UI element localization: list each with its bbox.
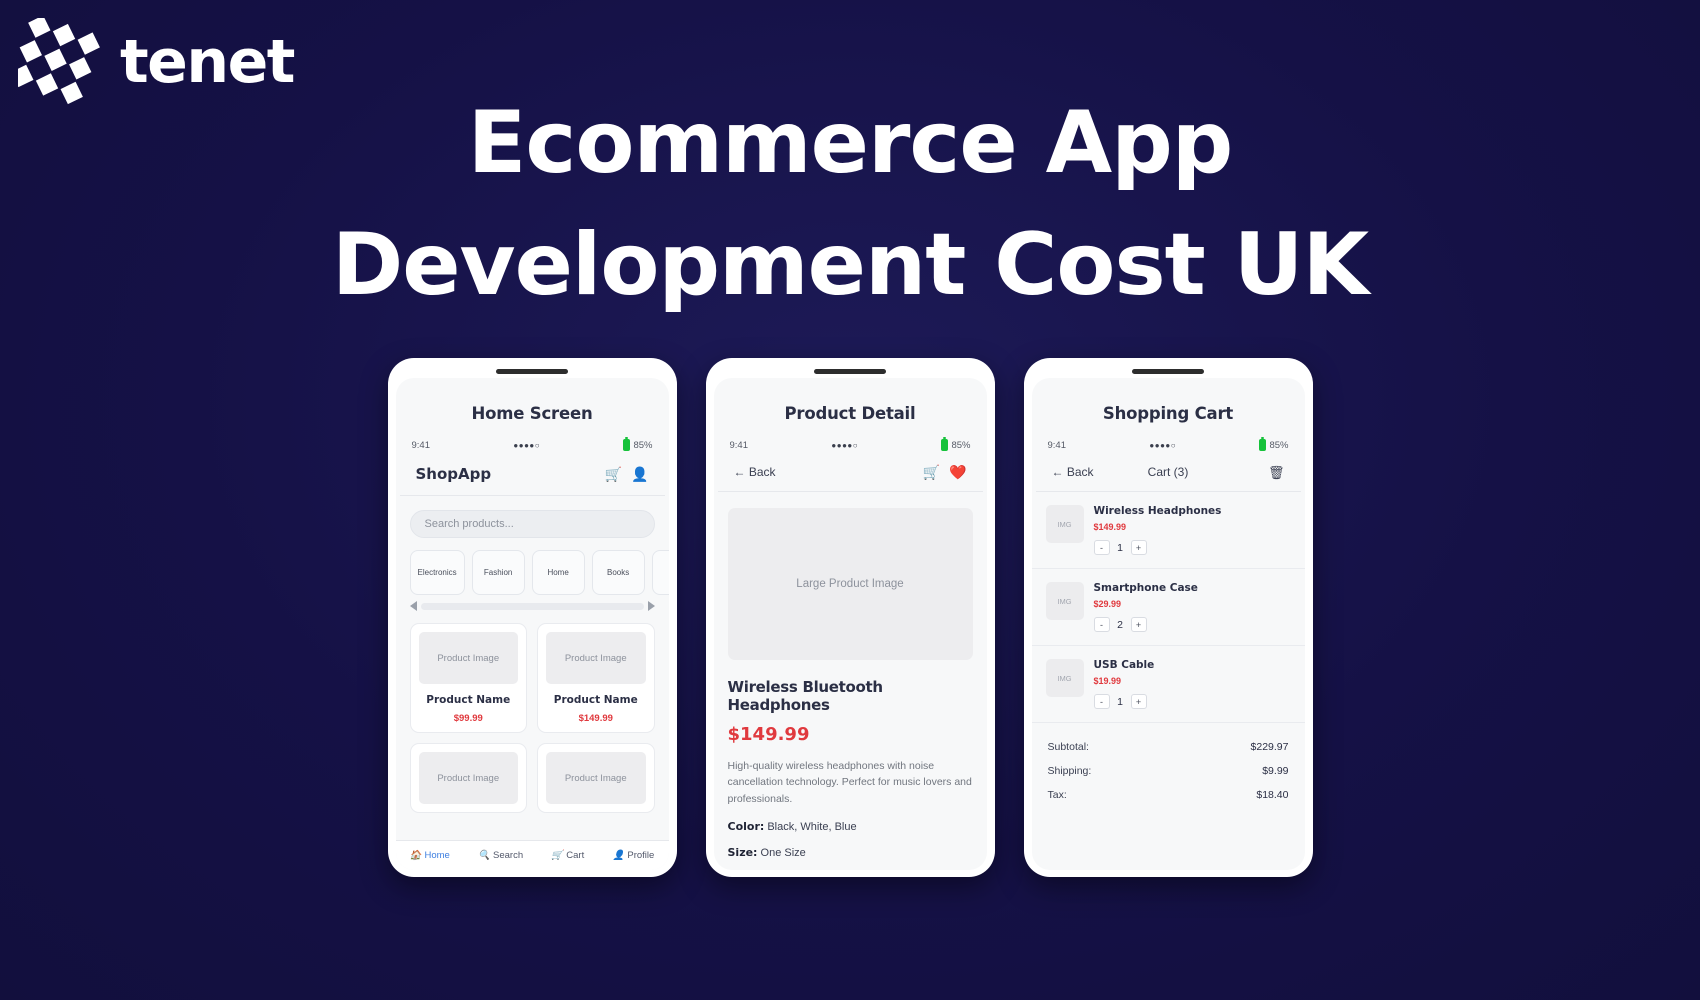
back-button[interactable]: ← Back: [1052, 465, 1148, 479]
product-price: $99.99: [419, 713, 519, 724]
quantity-stepper[interactable]: - 1 +: [1094, 694, 1291, 709]
product-spec-size: Size: One Size: [728, 846, 973, 859]
app-bar-actions: 🛒 👤: [605, 467, 649, 481]
summary-value-subtotal: $229.97: [1251, 741, 1289, 753]
phone-shopping-cart: Shopping Cart 9:41 ●●●●○ 85% ← Back Cart…: [1024, 358, 1313, 877]
phone-notch: [814, 369, 886, 374]
phone-notch: [496, 369, 568, 374]
summary-value-tax: $18.40: [1256, 789, 1288, 801]
quantity-value: 2: [1116, 619, 1125, 631]
cart-icon[interactable]: 🛒: [923, 465, 940, 479]
spec-value-color: Black, White, Blue: [764, 821, 856, 833]
home-icon: 🏠: [410, 850, 422, 861]
cart-item-thumbnail: IMG: [1046, 505, 1084, 543]
category-chip-partial[interactable]: S: [652, 550, 669, 595]
search-input[interactable]: Search products...: [410, 510, 655, 538]
summary-label-shipping: Shipping:: [1048, 765, 1092, 777]
increase-quantity-button[interactable]: +: [1131, 694, 1147, 709]
cart-item-name: Smartphone Case: [1094, 582, 1291, 594]
phone-notch: [1132, 369, 1204, 374]
decrease-quantity-button[interactable]: -: [1094, 694, 1110, 709]
nav-label-home: Home: [425, 850, 450, 861]
cart-item-name: USB Cable: [1094, 659, 1291, 671]
battery-percent: 85%: [633, 440, 652, 451]
spec-value-size: One Size: [757, 847, 805, 859]
increase-quantity-button[interactable]: +: [1131, 540, 1147, 555]
battery-percent: 85%: [951, 440, 970, 451]
cart-row: IMG USB Cable $19.99 - 1 +: [1032, 646, 1305, 723]
increase-quantity-button[interactable]: +: [1131, 617, 1147, 632]
status-bar-cart: 9:41 ●●●●○ 85%: [1032, 423, 1305, 451]
product-title: Wireless Bluetooth Headphones: [728, 678, 973, 714]
phone-mockups: Home Screen 9:41 ●●●●○ 85% ShopApp 🛒 👤: [0, 358, 1700, 877]
product-price: $149.99: [728, 724, 973, 745]
phone-product-detail: Product Detail 9:41 ●●●●○ 85% ← Back 🛒 ❤…: [706, 358, 995, 877]
nav-item-home[interactable]: 🏠 Home: [410, 850, 450, 861]
summary-row-subtotal: Subtotal: $229.97: [1048, 735, 1289, 759]
product-spec-color: Color: Black, White, Blue: [728, 820, 973, 833]
scroll-left-arrow-icon[interactable]: [410, 601, 417, 611]
product-name: Product Name: [546, 694, 646, 706]
product-price: $149.99: [546, 713, 646, 724]
screen-shopping-cart: Shopping Cart 9:41 ●●●●○ 85% ← Back Cart…: [1032, 378, 1305, 870]
cart-item-thumbnail: IMG: [1046, 582, 1084, 620]
screen-title-product-detail: Product Detail: [714, 378, 987, 423]
profile-icon: 👤: [613, 850, 625, 861]
status-battery: 85%: [623, 439, 652, 451]
order-summary: Subtotal: $229.97 Shipping: $9.99 Tax: $…: [1032, 723, 1305, 807]
cart-item-thumbnail: IMG: [1046, 659, 1084, 697]
product-image-placeholder: Product Image: [546, 632, 646, 684]
nav-label-profile: Profile: [627, 850, 654, 861]
detail-actions: 🛒 ❤️: [923, 465, 967, 479]
cart-item-name: Wireless Headphones: [1094, 505, 1291, 517]
status-time: 9:41: [730, 440, 749, 451]
status-signal: ●●●●○: [831, 441, 858, 450]
decrease-quantity-button[interactable]: -: [1094, 617, 1110, 632]
cart-top-bar: ← Back Cart (3) 🗑: [1036, 451, 1301, 492]
nav-item-cart[interactable]: 🛒 Cart: [551, 850, 584, 861]
status-signal: ●●●●○: [1149, 441, 1176, 450]
spec-label-color: Color:: [728, 820, 765, 833]
cart-item-price: $149.99: [1094, 522, 1291, 532]
phone-home-screen: Home Screen 9:41 ●●●●○ 85% ShopApp 🛒 👤: [388, 358, 677, 877]
quantity-stepper[interactable]: - 2 +: [1094, 617, 1291, 632]
headline-line-1: Ecommerce App: [468, 93, 1233, 193]
poster-canvas: tenet Ecommerce App Development Cost UK …: [0, 0, 1700, 1000]
search-icon: 🔍: [478, 850, 490, 861]
nav-label-search: Search: [493, 850, 523, 861]
app-bar-home: ShopApp 🛒 👤: [400, 451, 665, 496]
decrease-quantity-button[interactable]: -: [1094, 540, 1110, 555]
page-title: Ecommerce App Development Cost UK: [0, 82, 1700, 326]
product-hero-image: Large Product Image: [728, 508, 973, 660]
screen-home: Home Screen 9:41 ●●●●○ 85% ShopApp 🛒 👤: [396, 378, 669, 870]
product-card[interactable]: Product Image Product Name $99.99: [410, 623, 528, 733]
category-chip-books[interactable]: Books: [592, 550, 645, 595]
cart-row: IMG Smartphone Case $29.99 - 2 +: [1032, 569, 1305, 646]
product-description: High-quality wireless headphones with no…: [728, 758, 973, 807]
summary-label-tax: Tax:: [1048, 789, 1067, 801]
battery-icon: [1259, 439, 1266, 451]
category-chip-fashion[interactable]: Fashion: [472, 550, 525, 595]
nav-item-search[interactable]: 🔍 Search: [478, 850, 523, 861]
battery-icon: [941, 439, 948, 451]
cart-item-info: Wireless Headphones $149.99 - 1 +: [1094, 505, 1291, 555]
cart-item-info: Smartphone Case $29.99 - 2 +: [1094, 582, 1291, 632]
nav-label-cart: Cart: [566, 850, 584, 861]
summary-label-subtotal: Subtotal:: [1048, 741, 1089, 753]
cart-item-info: USB Cable $19.99 - 1 +: [1094, 659, 1291, 709]
product-card[interactable]: Product Image: [410, 743, 528, 813]
cart-icon[interactable]: 🛒: [605, 467, 622, 481]
summary-row-shipping: Shipping: $9.99: [1048, 759, 1289, 783]
profile-icon[interactable]: 👤: [631, 467, 648, 481]
cart-icon: 🛒: [551, 850, 563, 861]
nav-item-profile[interactable]: 👤 Profile: [613, 850, 655, 861]
status-time: 9:41: [1048, 440, 1067, 451]
status-bar-product-detail: 9:41 ●●●●○ 85%: [714, 423, 987, 451]
cart-item-price: $29.99: [1094, 599, 1291, 609]
status-bar-home: 9:41 ●●●●○ 85%: [396, 423, 669, 451]
quantity-value: 1: [1116, 542, 1125, 554]
status-battery: 85%: [1259, 439, 1288, 451]
product-image-placeholder: Product Image: [419, 752, 519, 804]
cart-item-price: $19.99: [1094, 676, 1291, 686]
back-button[interactable]: ← Back: [734, 465, 776, 479]
category-scrollbar[interactable]: [410, 601, 655, 611]
screen-title-home: Home Screen: [396, 378, 669, 423]
scroll-right-arrow-icon[interactable]: [648, 601, 655, 611]
scrollbar-track[interactable]: [421, 603, 644, 610]
status-battery: 85%: [941, 439, 970, 451]
product-name: Product Name: [419, 694, 519, 706]
quantity-value: 1: [1116, 696, 1125, 708]
battery-percent: 85%: [1269, 440, 1288, 451]
cart-count-label: Cart (3): [1148, 465, 1189, 479]
product-card[interactable]: Product Image Product Name $149.99: [537, 623, 655, 733]
app-name: ShopApp: [416, 465, 492, 483]
screen-product-detail: Product Detail 9:41 ●●●●○ 85% ← Back 🛒 ❤…: [714, 378, 987, 870]
trash-icon[interactable]: 🗑: [1188, 466, 1284, 479]
detail-top-bar: ← Back 🛒 ❤️: [718, 451, 983, 492]
summary-row-tax: Tax: $18.40: [1048, 783, 1289, 807]
summary-value-shipping: $9.99: [1262, 765, 1288, 777]
category-chip-home[interactable]: Home: [532, 550, 585, 595]
spec-label-size: Size:: [728, 846, 758, 859]
category-chip-electronics[interactable]: Electronics: [410, 550, 465, 595]
product-card[interactable]: Product Image: [537, 743, 655, 813]
wishlist-heart-icon[interactable]: ❤️: [949, 465, 966, 479]
battery-icon: [623, 439, 630, 451]
bottom-navigation[interactable]: 🏠 Home 🔍 Search 🛒 Cart 👤 Profile: [396, 840, 669, 870]
category-chip-list[interactable]: Electronics Fashion Home Books S: [410, 550, 669, 595]
status-time: 9:41: [412, 440, 431, 451]
status-signal: ●●●●○: [513, 441, 540, 450]
product-grid: Product Image Product Name $99.99 Produc…: [410, 623, 655, 813]
product-image-placeholder: Product Image: [419, 632, 519, 684]
screen-title-shopping-cart: Shopping Cart: [1032, 378, 1305, 423]
product-image-placeholder: Product Image: [546, 752, 646, 804]
cart-row: IMG Wireless Headphones $149.99 - 1 +: [1032, 492, 1305, 569]
quantity-stepper[interactable]: - 1 +: [1094, 540, 1291, 555]
headline-line-2: Development Cost UK: [0, 204, 1700, 326]
search-placeholder: Search products...: [425, 518, 514, 530]
